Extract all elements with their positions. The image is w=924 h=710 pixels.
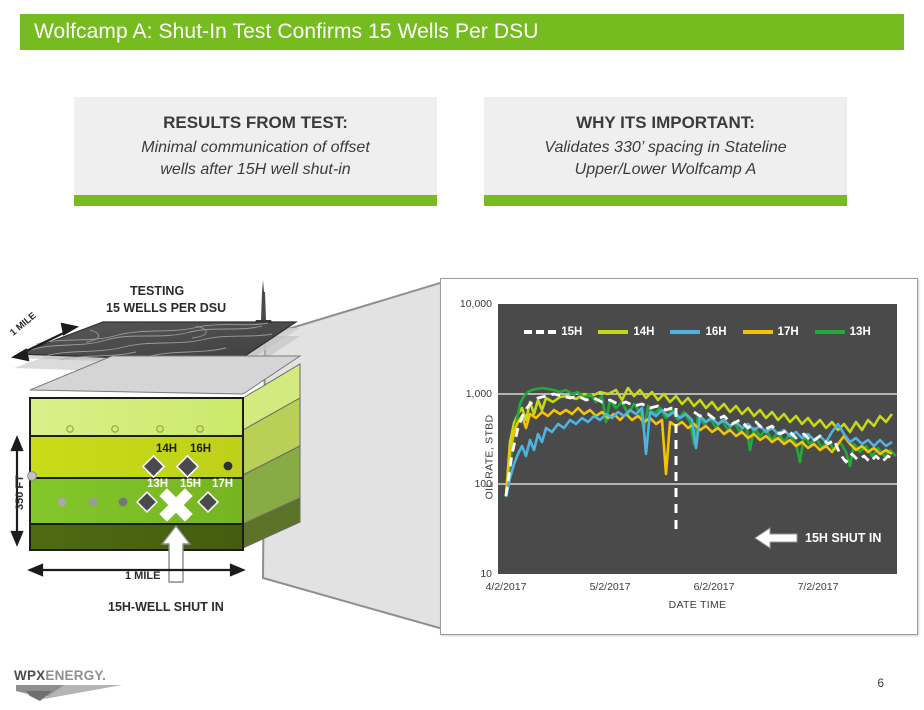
legend-label-14h: 14H bbox=[633, 326, 654, 338]
callout-accent-bar bbox=[74, 195, 437, 206]
page-number: 6 bbox=[877, 676, 884, 690]
callout-line-1: Minimal communication of offset bbox=[88, 137, 423, 159]
chart-plot-area: 10 100 1,000 10,000 4/2/2017 5/2/2017 6/… bbox=[498, 304, 897, 574]
dimension-width-label: 1 MILE bbox=[125, 570, 160, 582]
logo-primary-text: WPX bbox=[14, 668, 45, 683]
shut-in-annotation: 15H SHUT IN bbox=[753, 526, 881, 550]
derrick-icon bbox=[253, 280, 274, 327]
legend-swatch-16h bbox=[670, 330, 700, 334]
x-tick-3: 7/2/2017 bbox=[798, 581, 839, 593]
shut-in-caption: 15H-WELL SHUT IN bbox=[108, 600, 224, 614]
callout-line-1: Validates 330’ spacing in Stateline bbox=[498, 137, 833, 159]
legend-item-16h[interactable]: 16H bbox=[670, 326, 726, 338]
legend-label-13h: 13H bbox=[850, 326, 871, 338]
slide-title-bar: Wolfcamp A: Shut-In Test Confirms 15 Wel… bbox=[20, 14, 904, 50]
page-title: Wolfcamp A: Shut-In Test Confirms 15 Wel… bbox=[20, 20, 539, 44]
well-label-16h: 16H bbox=[190, 443, 211, 455]
callout-why-its-important: WHY ITS IMPORTANT: Validates 330’ spacin… bbox=[484, 97, 847, 206]
callout-heading: WHY ITS IMPORTANT: bbox=[498, 113, 833, 133]
x-tick-0: 4/2/2017 bbox=[486, 581, 527, 593]
callout-heading: RESULTS FROM TEST: bbox=[88, 113, 423, 133]
legend-label-15h: 15H bbox=[561, 326, 582, 338]
legend-swatch-17h bbox=[743, 330, 773, 334]
arrow-left-icon bbox=[753, 526, 799, 550]
legend-swatch-15h bbox=[524, 330, 556, 334]
legend-item-13h[interactable]: 13H bbox=[815, 326, 871, 338]
oil-rate-chart: OIL RATE, STBD DATE TIME 10 100 1,000 10… bbox=[440, 278, 918, 635]
chart-legend: 15H 14H 16H 17H 13H bbox=[498, 326, 897, 338]
well-label-14h: 14H bbox=[156, 443, 177, 455]
logo-secondary-text: ENERGY. bbox=[45, 668, 106, 683]
y-tick-10: 10 bbox=[480, 568, 492, 580]
x-tick-1: 5/2/2017 bbox=[590, 581, 631, 593]
y-tick-10000: 10,000 bbox=[460, 298, 492, 310]
legend-label-16h: 16H bbox=[705, 326, 726, 338]
legend-item-15h[interactable]: 15H bbox=[524, 326, 582, 338]
shut-in-annotation-label: 15H SHUT IN bbox=[805, 531, 881, 545]
legend-item-17h[interactable]: 17H bbox=[743, 326, 799, 338]
y-tick-100: 100 bbox=[474, 478, 492, 490]
block-title-line-1: TESTING bbox=[130, 284, 184, 298]
well-marker-dot bbox=[28, 472, 37, 481]
block-diagram: TESTING 15 WELLS PER DSU 1 MILE 350 FT 1… bbox=[0, 270, 340, 620]
legend-label-17h: 17H bbox=[778, 326, 799, 338]
callout-body: RESULTS FROM TEST: Minimal communication… bbox=[74, 97, 437, 195]
callout-line-2: Upper/Lower Wolfcamp A bbox=[498, 159, 833, 181]
well-label-15h: 15H bbox=[180, 478, 201, 490]
well-label-17h: 17H bbox=[212, 478, 233, 490]
legend-swatch-13h bbox=[815, 330, 845, 334]
series-14h bbox=[506, 388, 892, 496]
legend-item-14h[interactable]: 14H bbox=[598, 326, 654, 338]
legend-swatch-14h bbox=[598, 330, 628, 334]
x-axis-label: DATE TIME bbox=[498, 599, 897, 611]
dimension-depth-label: 350 FT bbox=[14, 475, 26, 510]
callout-accent-bar bbox=[484, 195, 847, 206]
well-marker-dot bbox=[224, 462, 233, 471]
y-tick-1000: 1,000 bbox=[466, 388, 492, 400]
logo-swoosh-icon bbox=[14, 683, 134, 701]
block-title-line-2: 15 WELLS PER DSU bbox=[106, 301, 226, 315]
wpx-energy-logo: WPXENERGY. bbox=[14, 668, 144, 702]
well-label-13h: 13H bbox=[147, 478, 168, 490]
callout-line-2: wells after 15H well shut-in bbox=[88, 159, 423, 181]
x-tick-2: 6/2/2017 bbox=[694, 581, 735, 593]
callout-results-from-test: RESULTS FROM TEST: Minimal communication… bbox=[74, 97, 437, 206]
callout-body: WHY ITS IMPORTANT: Validates 330’ spacin… bbox=[484, 97, 847, 195]
